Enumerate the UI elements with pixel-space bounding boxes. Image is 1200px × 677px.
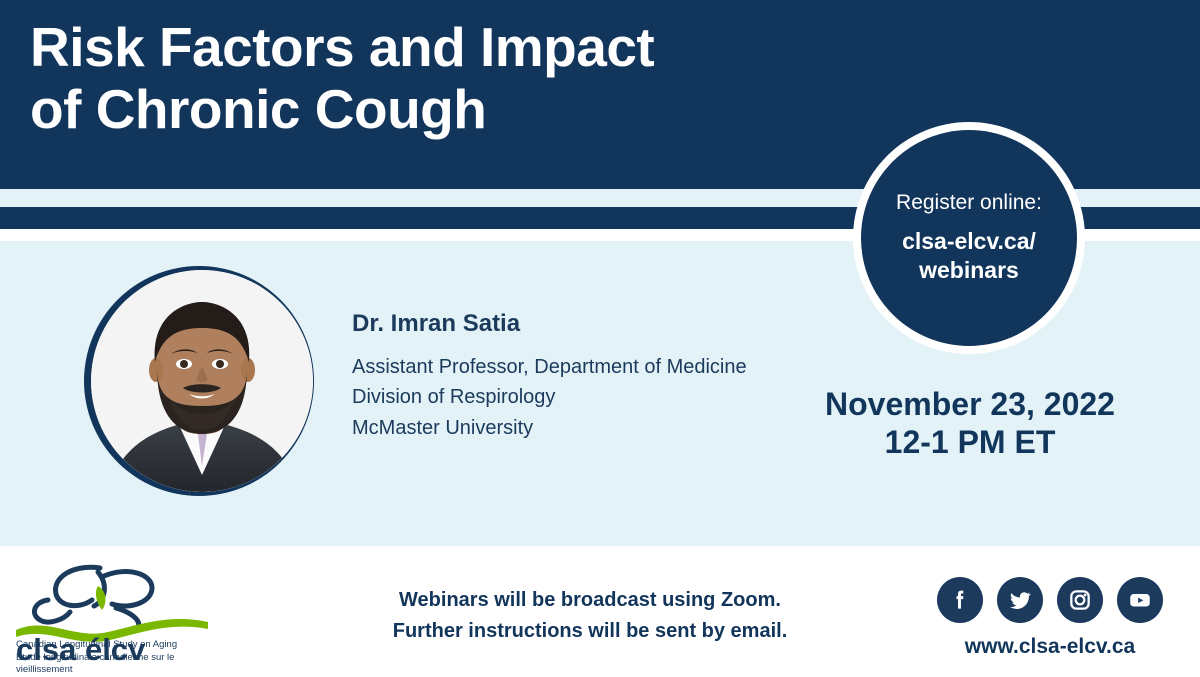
register-badge[interactable]: Register online: clsa-elcv.ca/ webinars	[861, 130, 1077, 346]
footer-note-line-1: Webinars will be broadcast using Zoom.	[300, 585, 880, 616]
facebook-link[interactable]	[937, 577, 983, 623]
footer-note-line-2: Further instructions will be sent by ema…	[300, 616, 880, 647]
speaker-affiliation-2: Division of Respirology	[352, 382, 812, 412]
register-url-line-2: webinars	[919, 257, 1019, 283]
speaker-name: Dr. Imran Satia	[352, 310, 812, 338]
footer-note: Webinars will be broadcast using Zoom. F…	[300, 585, 880, 647]
facebook-icon	[947, 587, 973, 613]
social-links: www.clsa-elcv.ca	[930, 577, 1170, 659]
clsa-logo: clsa élcv Canadian Longitudinal Study on…	[12, 556, 228, 666]
event-datetime: November 23, 2022 12-1 PM ET	[790, 386, 1150, 462]
event-time: 12-1 PM ET	[790, 424, 1150, 462]
title-line-1: Risk Factors and Impact	[30, 16, 850, 78]
title-line-2: of Chronic Cough	[30, 78, 850, 140]
twitter-link[interactable]	[997, 577, 1043, 623]
speaker-portrait	[91, 270, 313, 492]
register-url: clsa-elcv.ca/ webinars	[902, 227, 1036, 285]
speaker-affiliation-1: Assistant Professor, Department of Medic…	[352, 352, 812, 382]
instagram-link[interactable]	[1057, 577, 1103, 623]
logo-tagline-fr: Étude longitudinale canadienne sur le vi…	[16, 652, 228, 677]
page-title: Risk Factors and Impact of Chronic Cough	[30, 16, 850, 140]
website-url[interactable]: www.clsa-elcv.ca	[930, 635, 1170, 659]
twitter-icon	[1007, 587, 1033, 613]
logo-tagline-en: Canadian Longitudinal Study on Aging	[16, 639, 228, 652]
speaker-info: Dr. Imran Satia Assistant Professor, Dep…	[352, 310, 812, 443]
register-label: Register online:	[896, 191, 1042, 215]
webinar-poster: Risk Factors and Impact of Chronic Cough…	[0, 0, 1200, 675]
youtube-link[interactable]	[1117, 577, 1163, 623]
event-date: November 23, 2022	[790, 386, 1150, 424]
youtube-icon	[1127, 587, 1153, 613]
speaker-affiliation-3: McMaster University	[352, 413, 812, 443]
instagram-icon	[1067, 587, 1093, 613]
portrait-illustration	[91, 270, 313, 492]
register-url-line-1: clsa-elcv.ca/	[902, 228, 1036, 254]
